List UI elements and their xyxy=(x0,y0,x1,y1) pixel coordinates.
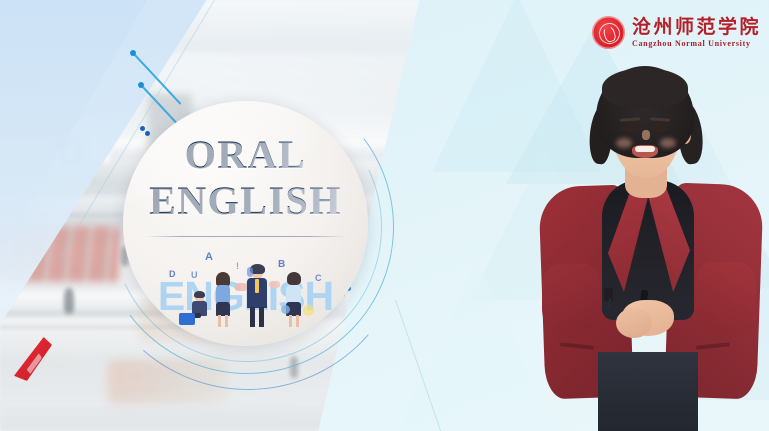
arm-left xyxy=(542,264,600,338)
presenter xyxy=(520,52,769,431)
illustration-bubble xyxy=(281,305,290,314)
floating-letter: A xyxy=(205,251,213,263)
course-title-line1-text: ORAL xyxy=(185,132,307,177)
background-person-silhouette xyxy=(64,288,74,314)
course-title-line2-text: ENGLISH xyxy=(149,178,342,223)
illustration-bubble xyxy=(303,305,314,316)
eye-left xyxy=(622,125,637,132)
cheek-left xyxy=(616,138,632,148)
university-logo: 沧州师范学院 Cangzhou Normal University xyxy=(592,16,761,49)
course-title-line2: ENGLISH xyxy=(123,177,368,224)
floating-letter: D xyxy=(169,269,176,279)
course-title-line1: ORAL xyxy=(123,131,368,178)
decor-dot xyxy=(130,50,136,56)
floating-letter: U xyxy=(191,270,198,280)
nose xyxy=(642,130,650,140)
decor-dot xyxy=(138,82,144,88)
floating-letter: ! xyxy=(236,261,239,271)
teeth xyxy=(635,146,655,152)
illustration-word: ENGLISH xyxy=(123,273,368,320)
title-circle: ORAL ENGLISH ENGLISH D A U B C ! xyxy=(123,101,368,346)
video-frame: ORAL ENGLISH ENGLISH D A U B C ! xyxy=(0,0,769,431)
university-name-cn: 沧州师范学院 xyxy=(632,18,761,37)
floating-letter: B xyxy=(278,259,285,270)
floating-letter: C xyxy=(315,273,322,283)
illustration-bubble xyxy=(247,267,253,277)
university-name-en: Cangzhou Normal University xyxy=(632,40,761,48)
hand-second xyxy=(616,308,652,338)
hair-fringe xyxy=(602,68,688,108)
cheek-right xyxy=(660,138,676,148)
illustration-bubble xyxy=(269,281,280,288)
skirt xyxy=(598,352,698,431)
eye-right xyxy=(652,125,667,132)
illustration-bubble xyxy=(235,283,247,291)
university-seal-icon xyxy=(592,16,625,49)
university-logo-text: 沧州师范学院 Cangzhou Normal University xyxy=(632,18,761,48)
course-illustration: ENGLISH D A U B C ! xyxy=(123,243,368,338)
title-divider xyxy=(145,236,346,237)
arm-right xyxy=(696,262,756,338)
title-circle-face: ORAL ENGLISH ENGLISH D A U B C ! xyxy=(123,101,368,346)
